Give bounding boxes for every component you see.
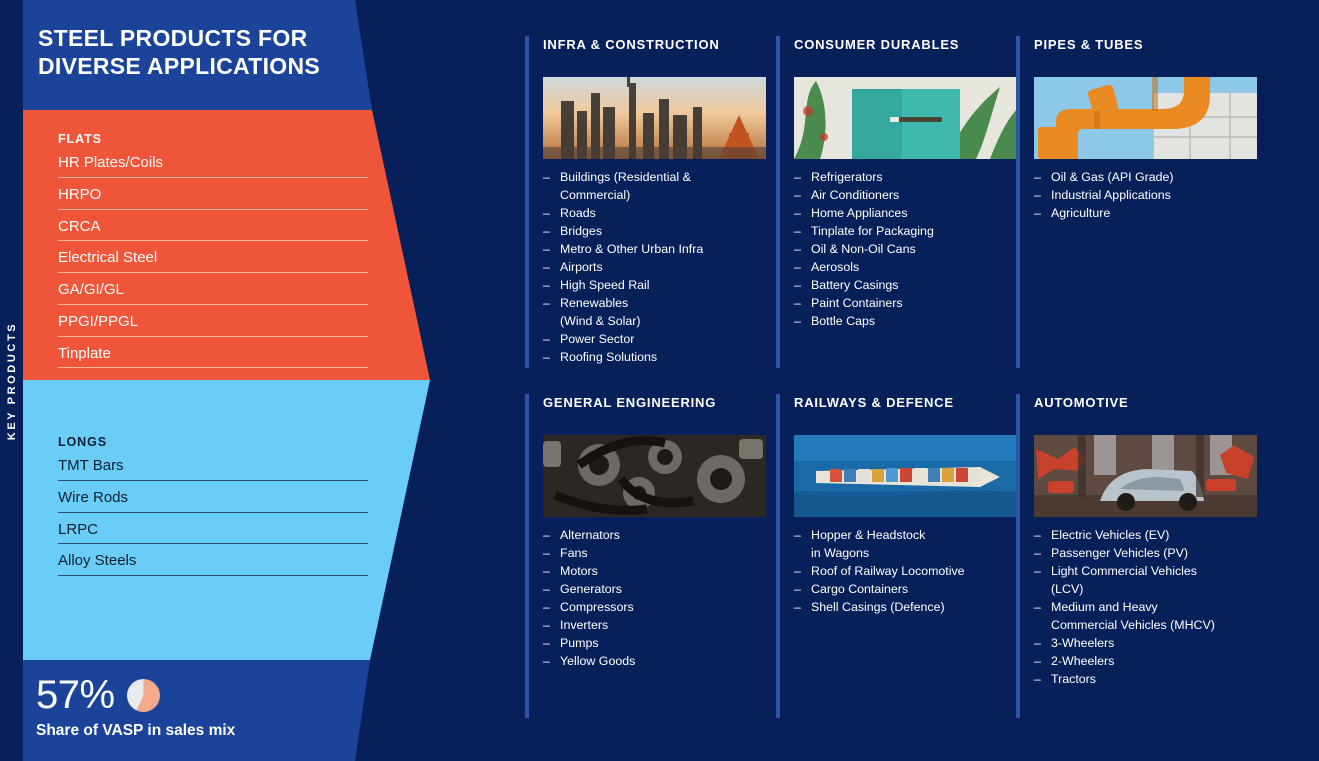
application-card[interactable]: PIPES & TUBES –Oil & Gas (API Grade)–Ind… [1016,36,1244,368]
page-title: STEEL PRODUCTS FOR DIVERSE APPLICATIONS [38,24,348,80]
card-list-item: –Inverters [543,617,753,635]
card-list-item: –Tractors [1034,671,1244,689]
card-list-item: –Air Conditioners [794,187,1004,205]
card-list-item-label: Aerosols [811,260,859,274]
dash-bullet-icon: – [1034,563,1041,581]
dash-bullet-icon: – [543,599,550,617]
card-list-item-label: Pumps [560,636,599,650]
card-list-item-label: Cargo Containers [811,582,908,596]
dash-bullet-icon: – [543,331,550,349]
key-products-rail: KEY PRODUCTS [0,0,23,761]
stat-caption: Share of VASP in sales mix [36,722,235,740]
card-list-item-label: Oil & Non-Oil Cans [811,242,916,256]
card-title: AUTOMOTIVE [1034,394,1244,430]
card-list-item: –Paint Containers [794,295,1004,313]
card-list-item-label: Generators [560,582,622,596]
card-list-item: –Power Sector [543,331,753,349]
product-item: CRCA [58,210,368,242]
dash-bullet-icon: – [1034,599,1041,617]
dash-bullet-icon: – [543,295,550,313]
card-list-item-label: High Speed Rail [560,278,650,292]
longs-list: TMT BarsWire RodsLRPCAlloy Steels [58,449,368,576]
card-list-item-label: Motors [560,564,598,578]
card-list-item: –Airports [543,259,753,277]
dash-bullet-icon: – [543,617,550,635]
dash-bullet-icon: – [543,223,550,241]
card-list-item: –Alternators [543,527,753,545]
dash-bullet-icon: – [543,205,550,223]
dash-bullet-icon: – [543,653,550,671]
card-list-item-label: Light Commercial Vehicles [1051,564,1197,578]
card-title: PIPES & TUBES [1034,36,1244,72]
card-list-item-label: Home Appliances [811,206,907,220]
card-list-item: –Oil & Gas (API Grade) [1034,169,1244,187]
card-list-item-label: Agriculture [1051,206,1110,220]
dash-bullet-icon: – [794,581,801,599]
card-item-list: –Buildings (Residential &Commercial)–Roa… [543,169,753,367]
card-title: RAILWAYS & DEFENCE [794,394,1004,430]
card-list-item: –Light Commercial Vehicles [1034,563,1244,581]
card-list-item: –Battery Casings [794,277,1004,295]
card-list-item: –Agriculture [1034,205,1244,223]
dash-bullet-icon: – [794,277,801,295]
key-products-label: KEY PRODUCTS [6,321,18,439]
dash-bullet-icon: – [543,259,550,277]
product-item: Tinplate [58,337,368,369]
stat-row: 57% [36,675,160,715]
dash-bullet-icon: – [1034,187,1041,205]
dash-bullet-icon: – [794,205,801,223]
flats-group: FLATS HR Plates/CoilsHRPOCRCAElectrical … [23,110,440,380]
card-list-item-label: 2-Wheelers [1051,654,1114,668]
dash-bullet-icon: – [543,277,550,295]
application-card[interactable]: AUTOMOTIVE –Electric Vehicles (EV)–Passe… [1016,394,1244,718]
card-list-item-label: Fans [560,546,588,560]
card-list-item: –Roads [543,205,753,223]
card-item-list: –Oil & Gas (API Grade)–Industrial Applic… [1034,169,1244,223]
card-item-list: –Hopper & Headstockin Wagons–Roof of Rai… [794,527,1004,617]
card-list-item-label: Commercial Vehicles (MHCV) [1051,618,1215,632]
longs-group: LONGS TMT BarsWire RodsLRPCAlloy Steels [23,380,440,660]
card-list-item: –Fans [543,545,753,563]
card-list-item-label: Tractors [1051,672,1096,686]
card-list-item-label: Hopper & Headstock [811,528,925,542]
city-skyline-photo [543,77,766,159]
card-list-item: –Motors [543,563,753,581]
vasp-stat-block: 57% Share of VASP in sales mix [0,660,440,761]
card-list-item-label: Tinplate for Packaging [811,224,934,238]
card-list-item-label: (Wind & Solar) [560,314,641,328]
longs-heading: LONGS [58,435,368,449]
card-list-item: Commercial Vehicles (MHCV) [1034,617,1244,635]
dash-bullet-icon: – [794,295,801,313]
engine-belts-photo [543,435,766,517]
dash-bullet-icon: – [794,527,801,545]
card-list-item-label: Renewables [560,296,628,310]
dash-bullet-icon: – [1034,671,1041,689]
card-list-item: –Generators [543,581,753,599]
card-list-item: –Bottle Caps [794,313,1004,331]
card-list-item-label: in Wagons [811,546,869,560]
card-item-list: –Electric Vehicles (EV)–Passenger Vehicl… [1034,527,1244,689]
card-list-item: –Refrigerators [794,169,1004,187]
dash-bullet-icon: – [543,635,550,653]
container-ship-photo [794,435,1017,517]
card-list-item-label: Roads [560,206,596,220]
dash-bullet-icon: – [543,563,550,581]
dash-bullet-icon: – [794,223,801,241]
card-list-item: –Oil & Non-Oil Cans [794,241,1004,259]
product-item: LRPC [58,513,368,545]
card-list-item: –Electric Vehicles (EV) [1034,527,1244,545]
card-list-item-label: Buildings (Residential & [560,170,691,184]
card-list-item: (LCV) [1034,581,1244,599]
card-list-item: –Roofing Solutions [543,349,753,367]
dash-bullet-icon: – [794,187,801,205]
dash-bullet-icon: – [1034,169,1041,187]
card-list-item: –Shell Casings (Defence) [794,599,1004,617]
dash-bullet-icon: – [794,169,801,187]
card-list-item-label: Commercial) [560,188,630,202]
dash-bullet-icon: – [543,169,550,187]
card-list-item: –Home Appliances [794,205,1004,223]
card-list-item-label: Inverters [560,618,608,632]
card-list-item: –Pumps [543,635,753,653]
key-products-panel: KEY PRODUCTS STEEL PRODUCTS FOR DIVERSE … [0,0,440,761]
card-list-item: –Buildings (Residential & [543,169,753,187]
card-list-item-label: Passenger Vehicles (PV) [1051,546,1188,560]
card-list-item: –3-Wheelers [1034,635,1244,653]
dash-bullet-icon: – [1034,527,1041,545]
card-list-item: –Bridges [543,223,753,241]
card-title: CONSUMER DURABLES [794,36,1004,72]
card-list-item-label: Battery Casings [811,278,898,292]
product-item: GA/GI/GL [58,273,368,305]
card-list-item-label: Paint Containers [811,296,903,310]
card-list-item: –Medium and Heavy [1034,599,1244,617]
card-list-item-label: Yellow Goods [560,654,635,668]
card-list-item-label: Bottle Caps [811,314,875,328]
card-list-item: –Tinplate for Packaging [794,223,1004,241]
dash-bullet-icon: – [543,581,550,599]
flats-list: HR Plates/CoilsHRPOCRCAElectrical SteelG… [58,146,368,368]
card-list-item: –Metro & Other Urban Infra [543,241,753,259]
product-item: Wire Rods [58,481,368,513]
card-list-item-label: Electric Vehicles (EV) [1051,528,1169,542]
application-card-grid: INFRA & CONSTRUCTION –Buildings (Residen… [525,36,1285,736]
card-list-item-label: Alternators [560,528,620,542]
card-item-list: –Refrigerators–Air Conditioners–Home App… [794,169,1004,331]
card-list-item: –Hopper & Headstock [794,527,1004,545]
card-list-item: in Wagons [794,545,1004,563]
application-card[interactable]: GENERAL ENGINEERING –Alternators–Fans–Mo… [525,394,753,718]
card-list-item: –Aerosols [794,259,1004,277]
application-card[interactable]: RAILWAYS & DEFENCE –Hopper & Headstockin… [776,394,1004,718]
product-item: HRPO [58,178,368,210]
card-list-item: –2-Wheelers [1034,653,1244,671]
card-title: GENERAL ENGINEERING [543,394,753,430]
product-item: Electrical Steel [58,241,368,273]
pie-chart-icon [127,679,160,712]
dash-bullet-icon: – [1034,205,1041,223]
car-assembly-robots-photo [1034,435,1257,517]
dash-bullet-icon: – [794,313,801,331]
dash-bullet-icon: – [543,527,550,545]
card-list-item: –Yellow Goods [543,653,753,671]
panel-header: STEEL PRODUCTS FOR DIVERSE APPLICATIONS [0,0,440,110]
card-list-item: –Renewables [543,295,753,313]
refrigerator-photo [794,77,1017,159]
card-list-item-label: Industrial Applications [1051,188,1171,202]
application-card[interactable]: INFRA & CONSTRUCTION –Buildings (Residen… [525,36,753,368]
dash-bullet-icon: – [543,349,550,367]
card-item-list: –Alternators–Fans–Motors–Generators–Comp… [543,527,753,671]
product-item: PPGI/PPGL [58,305,368,337]
card-list-item-label: 3-Wheelers [1051,636,1114,650]
card-list-item: Commercial) [543,187,753,205]
dash-bullet-icon: – [1034,635,1041,653]
card-list-item: (Wind & Solar) [543,313,753,331]
card-list-item-label: Oil & Gas (API Grade) [1051,170,1174,184]
card-list-item-label: Roof of Railway Locomotive [811,564,965,578]
card-list-item-label: Power Sector [560,332,634,346]
card-list-item: –Compressors [543,599,753,617]
product-item: TMT Bars [58,449,368,481]
card-list-item: –High Speed Rail [543,277,753,295]
card-list-item-label: Air Conditioners [811,188,899,202]
dash-bullet-icon: – [1034,653,1041,671]
product-item: HR Plates/Coils [58,146,368,178]
application-card[interactable]: CONSUMER DURABLES –Refrigerators–Air Con… [776,36,1004,368]
card-list-item-label: Roofing Solutions [560,350,657,364]
card-list-item-label: Airports [560,260,603,274]
card-list-item: –Cargo Containers [794,581,1004,599]
card-list-item-label: (LCV) [1051,582,1083,596]
card-list-item: –Roof of Railway Locomotive [794,563,1004,581]
card-list-item: –Industrial Applications [1034,187,1244,205]
card-list-item-label: Refrigerators [811,170,883,184]
orange-pipes-photo [1034,77,1257,159]
dash-bullet-icon: – [794,563,801,581]
card-list-item-label: Medium and Heavy [1051,600,1158,614]
dash-bullet-icon: – [794,259,801,277]
infographic-root: KEY PRODUCTS STEEL PRODUCTS FOR DIVERSE … [0,0,1319,761]
dash-bullet-icon: – [794,599,801,617]
card-list-item-label: Metro & Other Urban Infra [560,242,703,256]
flats-heading: FLATS [58,132,368,146]
dash-bullet-icon: – [543,545,550,563]
card-title: INFRA & CONSTRUCTION [543,36,753,72]
stat-value: 57% [36,675,115,715]
dash-bullet-icon: – [794,241,801,259]
card-list-item: –Passenger Vehicles (PV) [1034,545,1244,563]
card-list-item-label: Compressors [560,600,634,614]
card-list-item-label: Bridges [560,224,602,238]
product-item: Alloy Steels [58,544,368,576]
card-list-item-label: Shell Casings (Defence) [811,600,945,614]
dash-bullet-icon: – [1034,545,1041,563]
dash-bullet-icon: – [543,241,550,259]
